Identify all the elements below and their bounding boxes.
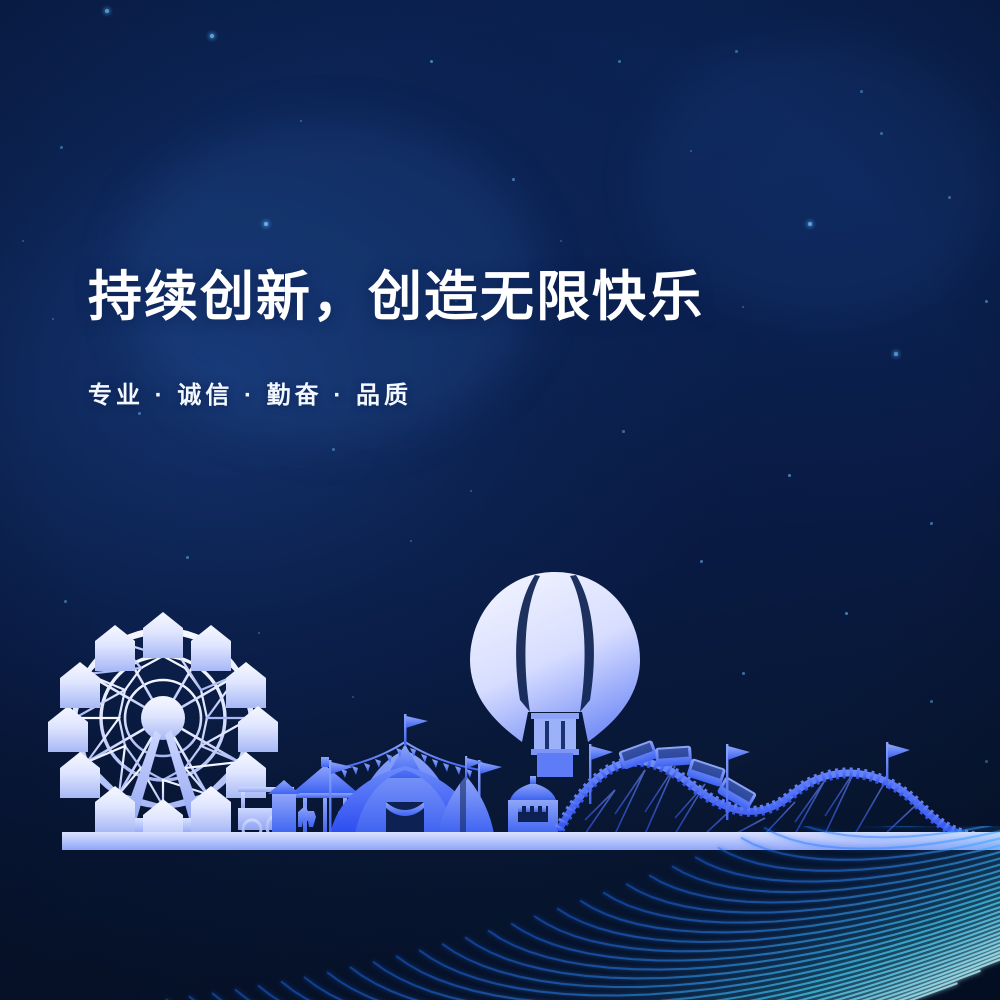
wave-cross-line — [833, 485, 1000, 814]
wave-cross-line — [718, 581, 1000, 871]
wave-cross-line — [902, 425, 1000, 778]
wave-cross-line — [764, 543, 1000, 849]
wave-cross-line — [603, 671, 1000, 923]
wave-cross-line — [741, 562, 1000, 860]
wave-cross-line — [971, 362, 1000, 738]
wave-cross-line — [810, 505, 1000, 826]
wave-cross-line — [580, 688, 1000, 933]
wave-cross-line — [925, 404, 1000, 765]
wave-cross-line — [511, 738, 1000, 960]
wave-cross-line — [534, 722, 1000, 952]
wave-cross-line — [994, 341, 1000, 725]
wave-cross-line — [557, 705, 1000, 942]
wave-cross-line — [672, 617, 1000, 892]
wave-cross-line — [649, 635, 1000, 902]
wave-mesh-decoration — [0, 0, 1000, 1000]
wave-cross-line — [787, 524, 1000, 837]
wave-cross-line — [948, 383, 1000, 752]
wave-cross-line — [856, 465, 1000, 802]
wave-cross-line — [879, 445, 1000, 790]
poster-canvas: 持续创新，创造无限快乐 专业 · 诚信 · 勤奋 · 品质 — [0, 0, 1000, 1000]
